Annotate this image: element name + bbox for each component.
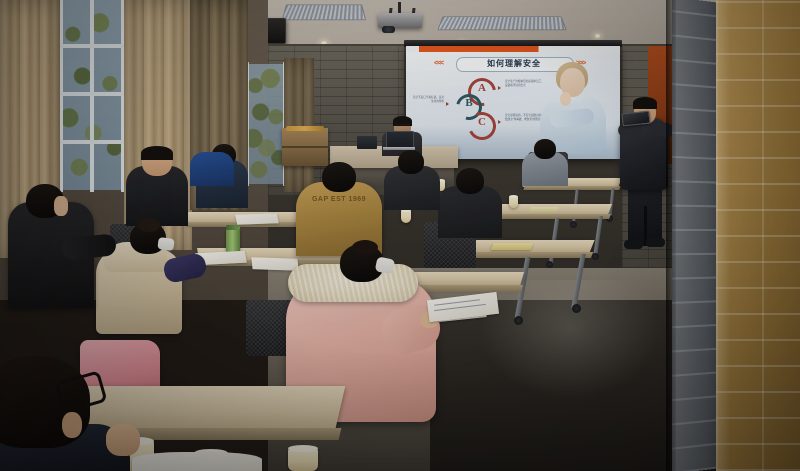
table-caster — [570, 221, 577, 228]
window-view-foliage — [248, 64, 284, 184]
green-tumbler-lid — [226, 225, 240, 230]
chevron-left-icon: <<< — [434, 57, 443, 70]
paper-cup-rim — [509, 195, 518, 198]
attendee-gap-jacket-label: GAP EST 1969 — [300, 196, 378, 203]
window-curtain-far — [284, 58, 314, 192]
floor-light-reflection — [480, 280, 660, 400]
slide-bullet-marker-a — [498, 86, 501, 90]
window-mullion — [90, 0, 94, 192]
photographer-shoe — [624, 240, 643, 249]
table-caster — [572, 304, 581, 313]
attendee-left-back2-hair — [141, 146, 173, 160]
abc-letter-a: A — [468, 82, 496, 94]
table-row-front-left — [400, 272, 524, 286]
handout-highlighted[interactable] — [529, 207, 559, 212]
attendee-center-head — [398, 150, 424, 174]
window-transom — [58, 44, 126, 48]
abc-letter-c: C — [468, 116, 496, 128]
attendee-dark-coat-head — [456, 168, 484, 194]
slide-note-left: 安全不是口号和标语，是对生命的尊重 — [412, 96, 444, 103]
presenter-glasses — [395, 124, 410, 128]
table-caster — [514, 316, 523, 325]
table-edge — [523, 186, 620, 190]
photographer-hair — [633, 97, 657, 109]
projector-lens — [382, 26, 395, 33]
laptop-secondary[interactable] — [357, 136, 377, 149]
photographer-shoe — [646, 238, 665, 247]
table-caster — [592, 253, 599, 260]
window-transom — [58, 92, 126, 96]
attendee-gap-jacket-head — [322, 162, 356, 192]
stone-column-inner — [672, 0, 721, 471]
handout-sheet[interactable] — [235, 213, 279, 224]
attendee-hoodie-head — [534, 139, 556, 159]
attendee-foreground-hand — [106, 424, 140, 456]
shelf-divider — [282, 146, 328, 148]
attendee-foreground-ear — [62, 412, 82, 438]
window-transom — [58, 140, 126, 144]
ceiling-air-vent — [282, 5, 366, 21]
classroom-photo: 如何理解安全 <<< >>> A B C 安全生产的根本目的是保护员工、设备和环… — [0, 0, 800, 471]
attendee-black-jacket-skin — [54, 196, 68, 216]
slide-bullet-marker-left — [446, 102, 449, 106]
attendee-cream-fleece-hairbun — [138, 218, 160, 232]
stone-column-shadow-edge — [666, 0, 676, 471]
attendee-blue-jacket-body — [190, 152, 234, 186]
ceiling-downlight — [594, 34, 601, 38]
handout-sheet[interactable] — [251, 257, 298, 271]
woman-hand — [560, 92, 571, 106]
handout-sheet-foreground[interactable] — [132, 452, 262, 471]
paper-cup-rim — [288, 445, 318, 452]
table-caster — [546, 261, 553, 268]
table-edge — [495, 214, 611, 219]
face-mask — [157, 237, 175, 251]
attendee-pink-coat-hairtie — [352, 240, 378, 255]
handout-highlighted[interactable] — [491, 243, 534, 250]
abc-letter-b: B — [456, 97, 482, 109]
slide-bullet-marker-c — [498, 120, 501, 124]
projection-screen[interactable]: 如何理解安全 <<< >>> A B C 安全生产的根本目的是保护员工、设备和环… — [406, 46, 620, 159]
ceiling-air-vent — [437, 16, 566, 30]
slide-accent-bar — [406, 46, 620, 52]
shelf-top-items — [286, 126, 324, 131]
stone-column-highlight — [716, 0, 730, 471]
